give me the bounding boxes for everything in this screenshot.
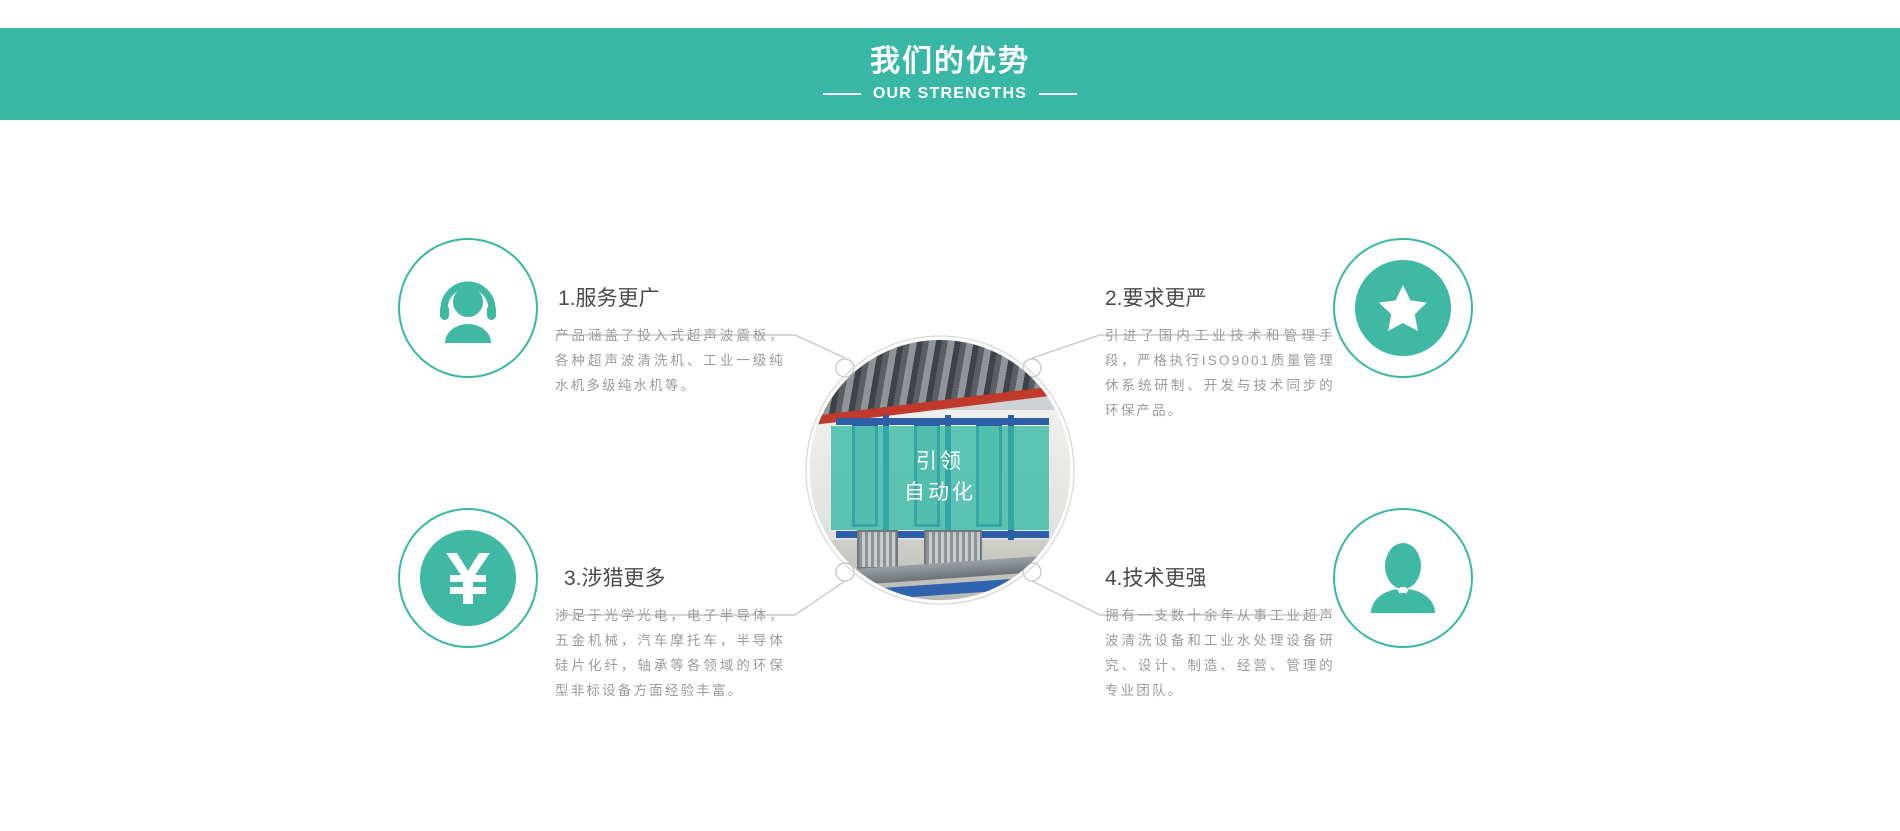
feature-title: 4.技术更强 <box>1105 567 1335 590</box>
badge-team[interactable] <box>1333 508 1473 648</box>
center-photo: 引领 自动化 <box>810 340 1070 600</box>
feature-body: 涉足于光学光电，电子半导体，五金机械，汽车摩托车，半导体硅片化纤，轴承等各领域的… <box>555 603 785 703</box>
businessman-icon <box>1365 541 1441 615</box>
feature-block-4: 4.技术更强 拥有一支数十余年从事工业超声波清洗设备和工业水处理设备研究、设计、… <box>1105 567 1335 703</box>
feature-title: 3.涉猎更多 <box>555 567 785 590</box>
badge-standards[interactable] <box>1333 238 1473 378</box>
feature-block-2: 2.要求更严 引进了国内工业技术和管理手段，严格执行ISO9001质量管理休系统… <box>1105 287 1335 423</box>
feature-body: 拥有一支数十余年从事工业超声波清洗设备和工业水处理设备研究、设计、制造、经营、管… <box>1105 603 1335 703</box>
feature-title: 1.服务更广 <box>555 287 785 310</box>
star-icon <box>1378 284 1428 332</box>
feature-body: 产品涵盖了投入式超声波震板，各种超声波清洗机、工业一级纯水机多级纯水机等。 <box>555 323 785 398</box>
feature-block-3: 3.涉猎更多 涉足于光学光电，电子半导体，五金机械，汽车摩托车，半导体硅片化纤，… <box>555 567 785 703</box>
overlay-line-2: 自动化 <box>904 478 976 508</box>
badge-fill-circle <box>1355 260 1451 356</box>
badge-fill-circle <box>420 530 516 626</box>
feature-body: 引进了国内工业技术和管理手段，严格执行ISO9001质量管理休系统研制、开发与技… <box>1105 323 1335 423</box>
headset-support-icon <box>431 271 505 345</box>
feature-title: 2.要求更严 <box>1105 287 1335 310</box>
overlay-line-1: 引领 <box>916 447 964 477</box>
photo-caption-overlay: 引领 自动化 <box>831 426 1049 530</box>
badge-cost[interactable] <box>398 508 538 648</box>
feature-block-1: 1.服务更广 产品涵盖了投入式超声波震板，各种超声波清洗机、工业一级纯水机多级纯… <box>555 287 785 398</box>
badge-service[interactable] <box>398 238 538 378</box>
yen-currency-icon <box>442 551 494 605</box>
strengths-page: 我们的优势 OUR STRENGTHS <box>0 0 1900 831</box>
